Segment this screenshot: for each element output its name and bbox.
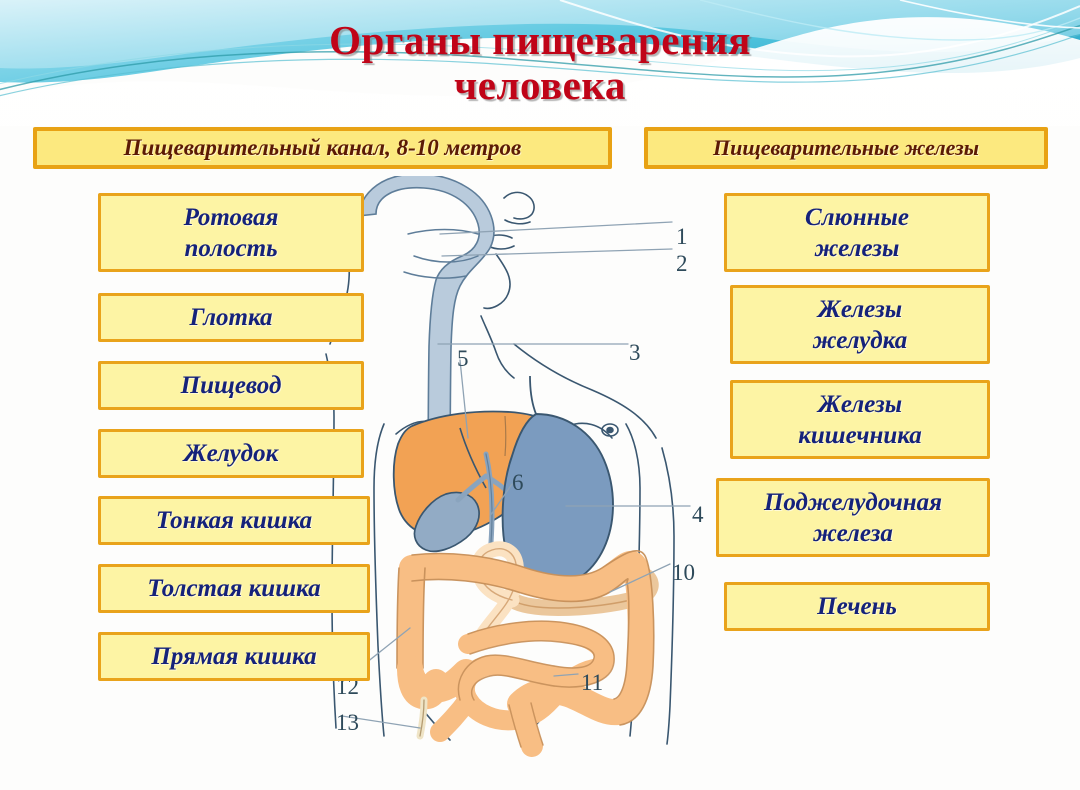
organ-box-pancreas[interactable]: Поджелудочная железа (716, 478, 990, 557)
section-header-digestive-canal: Пищеварительный канал, 8-10 метров (33, 127, 612, 169)
organ-label-pancreas-line2: железа (813, 520, 893, 547)
callout-number-6: 6 (512, 471, 524, 494)
organ-label-small-intestine: Тонкая кишка (156, 506, 312, 535)
organ-label-rectum: Прямая кишка (151, 642, 316, 671)
organ-box-liver[interactable]: Печень (724, 582, 990, 631)
organ-box-intestinal-glands[interactable]: Железы кишечника (730, 380, 990, 459)
organ-label-salivary-glands-line1: Слюнные (805, 204, 909, 231)
organ-label-stomach: Желудок (184, 439, 279, 468)
title-line-1: Органы пищеварения (329, 17, 751, 63)
callout-number-11: 11 (581, 671, 603, 694)
organ-label-large-intestine: Толстая кишка (147, 574, 320, 603)
organ-label-esophagus: Пищевод (181, 371, 282, 400)
slide-root: Органы пищеварения человека Пищеваритель… (0, 0, 1080, 790)
organ-box-mouth-cavity[interactable]: Ротовая полость (98, 193, 364, 272)
callout-number-2: 2 (676, 252, 688, 275)
organ-label-mouth-cavity-line1: Ротовая (184, 204, 279, 231)
digestive-system-illustration (300, 176, 780, 776)
organ-label-gastric-glands-line2: желудка (813, 327, 907, 354)
organ-label-pancreas-line1: Поджелудочная (764, 489, 942, 516)
organ-label-intestinal-glands-line1: Железы (818, 391, 902, 418)
section-header-digestive-glands: Пищеварительные железы (644, 127, 1048, 169)
page-title: Органы пищеварения человека (0, 18, 1080, 108)
callout-number-10: 10 (672, 561, 695, 584)
organ-label-mouth-cavity-line2: полость (184, 235, 277, 262)
organ-box-rectum[interactable]: Прямая кишка (98, 632, 370, 681)
organ-label-salivary-glands-line2: железы (815, 235, 900, 262)
organ-box-salivary-glands[interactable]: Слюнные железы (724, 193, 990, 272)
organ-box-large-intestine[interactable]: Толстая кишка (98, 564, 370, 613)
organ-box-stomach[interactable]: Желудок (98, 429, 364, 478)
organ-label-intestinal-glands-line2: кишечника (798, 422, 922, 449)
organ-box-small-intestine[interactable]: Тонкая кишка (98, 496, 370, 545)
callout-number-5: 5 (457, 347, 469, 370)
nose (504, 192, 534, 219)
cecum (410, 668, 436, 696)
callout-number-1: 1 (676, 225, 688, 248)
organ-box-esophagus[interactable]: Пищевод (98, 361, 364, 410)
organ-box-gastric-glands[interactable]: Железы желудка (730, 285, 990, 364)
organ-label-gastric-glands-line1: Железы (818, 296, 902, 323)
organ-label-pharynx: Глотка (189, 303, 272, 332)
callout-number-13: 13 (336, 711, 359, 734)
title-line-2: человека (0, 63, 1080, 108)
callout-number-3: 3 (629, 341, 641, 364)
rectum (520, 704, 532, 746)
callout-number-4: 4 (692, 503, 704, 526)
organ-label-liver: Печень (817, 592, 897, 621)
organ-box-pharynx[interactable]: Глотка (98, 293, 364, 342)
